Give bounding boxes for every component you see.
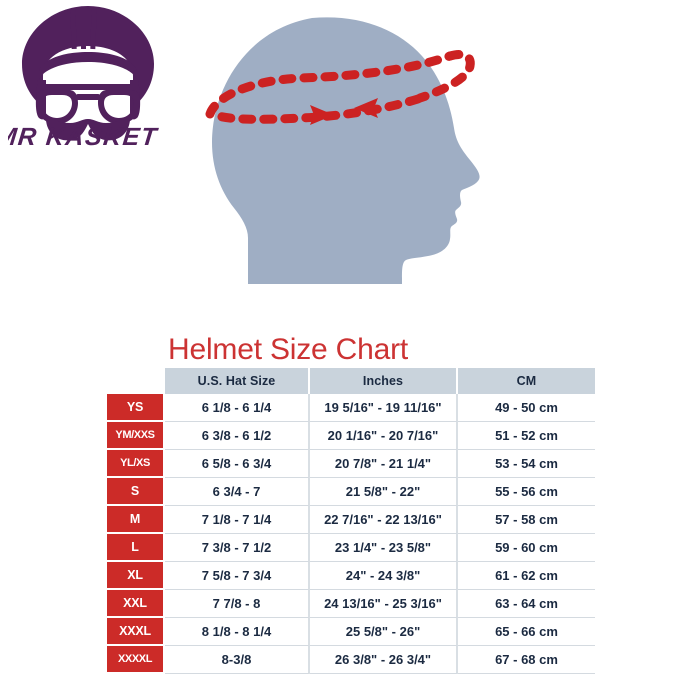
- head-profile-silhouette-icon: [182, 8, 512, 308]
- head-measure-illustration: [182, 8, 512, 308]
- brand-wordmark: MR KASKET: [8, 123, 160, 151]
- us-hat-size-cell: 6 3/4 - 7: [165, 478, 310, 506]
- table-row: XXXL8 1/8 - 8 1/425 5/8" - 26"65 - 66 cm: [107, 618, 595, 646]
- table-body: YS6 1/8 - 6 1/419 5/16" - 19 11/16"49 - …: [107, 394, 595, 674]
- inches-cell: 23 1/4" - 23 5/8": [310, 534, 458, 562]
- cm-cell: 59 - 60 cm: [458, 534, 595, 562]
- table-row: YS6 1/8 - 6 1/419 5/16" - 19 11/16"49 - …: [107, 394, 595, 422]
- size-label-cell: L: [107, 534, 165, 562]
- size-label-cell: XXL: [107, 590, 165, 618]
- cm-cell: 65 - 66 cm: [458, 618, 595, 646]
- inches-cell: 25 5/8" - 26": [310, 618, 458, 646]
- inches-cell: 19 5/16" - 19 11/16": [310, 394, 458, 422]
- cm-cell: 63 - 64 cm: [458, 590, 595, 618]
- table-row: XXL7 7/8 - 824 13/16" - 25 3/16"63 - 64 …: [107, 590, 595, 618]
- us-hat-size-cell: 7 7/8 - 8: [165, 590, 310, 618]
- column-header-inches: Inches: [310, 368, 458, 394]
- brand-logo: MR KASKET: [8, 2, 168, 152]
- table-row: M7 1/8 - 7 1/422 7/16" - 22 13/16"57 - 5…: [107, 506, 595, 534]
- size-label-cell: YS: [107, 394, 165, 422]
- inches-cell: 20 7/8" - 21 1/4": [310, 450, 458, 478]
- cm-cell: 49 - 50 cm: [458, 394, 595, 422]
- helmet-with-glasses-and-moustache-icon: MR KASKET: [8, 2, 168, 152]
- size-label-cell: XL: [107, 562, 165, 590]
- cm-cell: 57 - 58 cm: [458, 506, 595, 534]
- size-label-cell: XXXL: [107, 618, 165, 646]
- inches-cell: 21 5/8" - 22": [310, 478, 458, 506]
- us-hat-size-cell: 6 3/8 - 6 1/2: [165, 422, 310, 450]
- size-label-cell: M: [107, 506, 165, 534]
- cm-cell: 51 - 52 cm: [458, 422, 595, 450]
- us-hat-size-cell: 7 5/8 - 7 3/4: [165, 562, 310, 590]
- page-title: Helmet Size Chart: [168, 333, 408, 367]
- us-hat-size-cell: 6 5/8 - 6 3/4: [165, 450, 310, 478]
- size-chart-container: U.S. Hat Size Inches CM YS6 1/8 - 6 1/41…: [107, 368, 595, 674]
- us-hat-size-cell: 8-3/8: [165, 646, 310, 674]
- cm-cell: 61 - 62 cm: [458, 562, 595, 590]
- column-header-size: [107, 368, 165, 394]
- table-row: XXXXL8-3/826 3/8" - 26 3/4"67 - 68 cm: [107, 646, 595, 674]
- table-row: XL7 5/8 - 7 3/424" - 24 3/8"61 - 62 cm: [107, 562, 595, 590]
- column-header-cm: CM: [458, 368, 595, 394]
- table-row: L7 3/8 - 7 1/223 1/4" - 23 5/8"59 - 60 c…: [107, 534, 595, 562]
- size-label-cell: YL/XS: [107, 450, 165, 478]
- size-label-cell: XXXXL: [107, 646, 165, 674]
- us-hat-size-cell: 8 1/8 - 8 1/4: [165, 618, 310, 646]
- size-label-cell: YM/XXS: [107, 422, 165, 450]
- inches-cell: 20 1/16" - 20 7/16": [310, 422, 458, 450]
- cm-cell: 67 - 68 cm: [458, 646, 595, 674]
- table-header-row: U.S. Hat Size Inches CM: [107, 368, 595, 394]
- table-header: U.S. Hat Size Inches CM: [107, 368, 595, 394]
- us-hat-size-cell: 7 3/8 - 7 1/2: [165, 534, 310, 562]
- table-row: S6 3/4 - 721 5/8" - 22"55 - 56 cm: [107, 478, 595, 506]
- inches-cell: 24 13/16" - 25 3/16": [310, 590, 458, 618]
- us-hat-size-cell: 6 1/8 - 6 1/4: [165, 394, 310, 422]
- table-row: YM/XXS6 3/8 - 6 1/220 1/16" - 20 7/16"51…: [107, 422, 595, 450]
- inches-cell: 26 3/8" - 26 3/4": [310, 646, 458, 674]
- svg-text:MR KASKET: MR KASKET: [8, 123, 160, 151]
- us-hat-size-cell: 7 1/8 - 7 1/4: [165, 506, 310, 534]
- column-header-us-hat-size: U.S. Hat Size: [165, 368, 310, 394]
- cm-cell: 53 - 54 cm: [458, 450, 595, 478]
- inches-cell: 22 7/16" - 22 13/16": [310, 506, 458, 534]
- table-row: YL/XS6 5/8 - 6 3/420 7/8" - 21 1/4"53 - …: [107, 450, 595, 478]
- inches-cell: 24" - 24 3/8": [310, 562, 458, 590]
- size-label-cell: S: [107, 478, 165, 506]
- helmet-size-chart-page: MR KASKET Helmet Size Chart: [0, 0, 700, 700]
- helmet-size-table: U.S. Hat Size Inches CM YS6 1/8 - 6 1/41…: [107, 368, 595, 674]
- cm-cell: 55 - 56 cm: [458, 478, 595, 506]
